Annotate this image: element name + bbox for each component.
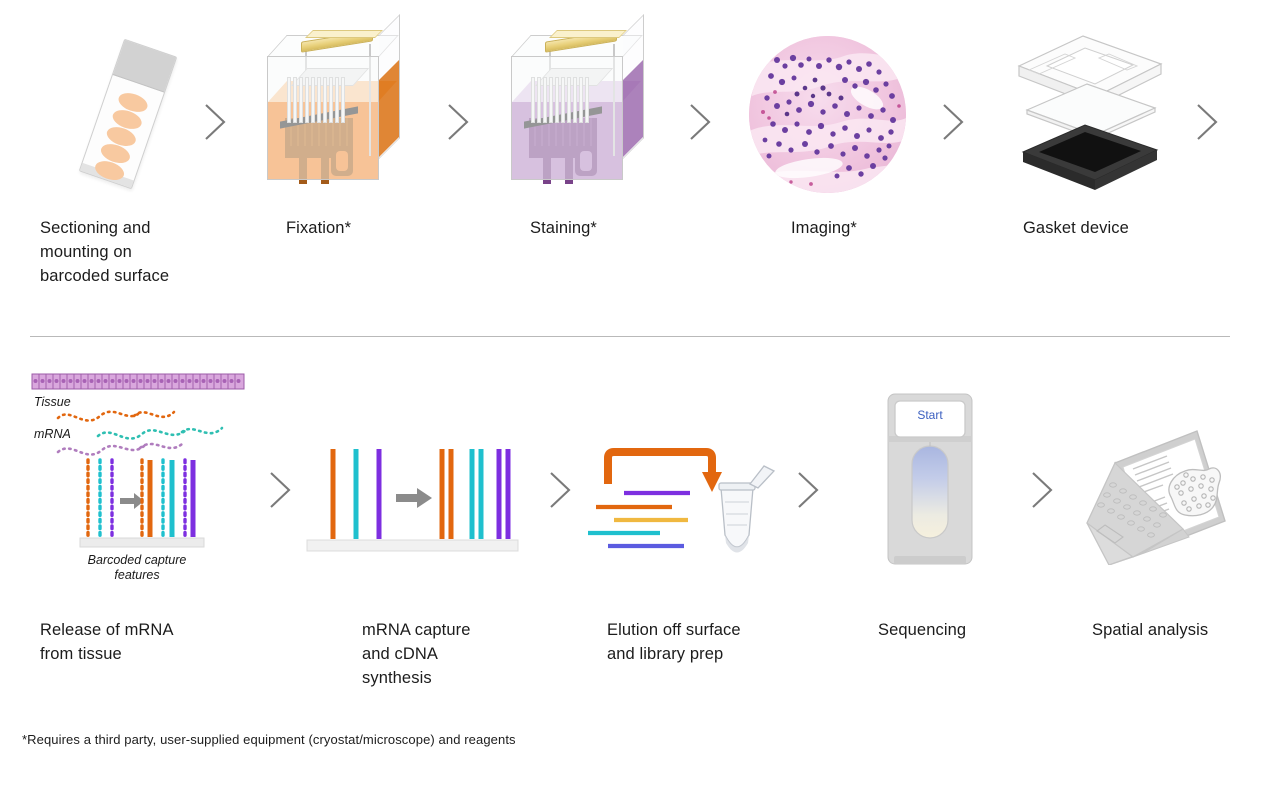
- sequencer-screen-label: Start: [895, 408, 965, 422]
- chevron-right-icon: [1192, 100, 1222, 144]
- chevron-right-icon: [545, 468, 575, 512]
- mrna-label: mRNA: [34, 427, 71, 441]
- chevron-right-icon: [443, 100, 473, 144]
- sequencer-icon: Start: [884, 390, 976, 570]
- step-label-release-mrna: Release of mRNA from tissue: [40, 618, 260, 666]
- step-label-imaging: Imaging*: [791, 216, 981, 240]
- gasket-device-icon: [1005, 28, 1175, 190]
- step-label-mrna-capture: mRNA capture and cDNA synthesis: [362, 618, 562, 690]
- step-label-gasket-device: Gasket device: [1023, 216, 1213, 240]
- chevron-right-icon: [1027, 468, 1057, 512]
- step-label-sectioning: Sectioning and mounting on barcoded surf…: [40, 216, 230, 288]
- staining-jar-purple-icon: [499, 22, 649, 192]
- cdna-synthesis-icon: [305, 443, 520, 558]
- step-label-fixation: Fixation*: [286, 216, 476, 240]
- slide-body: [79, 39, 178, 190]
- rack-handle-top: [305, 30, 383, 38]
- chevron-right-icon: [200, 100, 230, 144]
- workflow-diagram: Sectioning and mounting on barcoded surf…: [0, 0, 1280, 791]
- chevron-right-icon: [685, 100, 715, 144]
- chevron-right-icon: [793, 468, 823, 512]
- footnote: *Requires a third party, user-supplied e…: [22, 732, 516, 747]
- tissue-label: Tissue: [34, 395, 71, 409]
- step-label-spatial-analysis: Spatial analysis: [1092, 618, 1280, 642]
- jar-glass-front: [511, 56, 623, 180]
- barcoded-slide-icon: [72, 38, 202, 193]
- rack-handle-top: [549, 30, 627, 38]
- chevron-right-icon: [265, 468, 295, 512]
- step-label-sequencing: Sequencing: [878, 618, 1078, 642]
- tube-elution-icon: [578, 440, 778, 565]
- chevron-right-icon: [938, 100, 968, 144]
- section-divider: [30, 336, 1230, 337]
- laptop-analysis-icon: [1085, 425, 1230, 565]
- histology-micrograph-icon: [749, 36, 906, 193]
- step-label-staining: Staining*: [530, 216, 720, 240]
- step-label-elution: Elution off surface and library prep: [607, 618, 807, 666]
- staining-jar-orange-icon: [255, 22, 405, 192]
- jar-glass-front: [267, 56, 379, 180]
- barcoded-capture-icon: Tissue mRNA: [22, 370, 252, 570]
- slide-frosted-label: [113, 40, 176, 93]
- barcoded-capture-caption: Barcoded capture features: [22, 553, 252, 583]
